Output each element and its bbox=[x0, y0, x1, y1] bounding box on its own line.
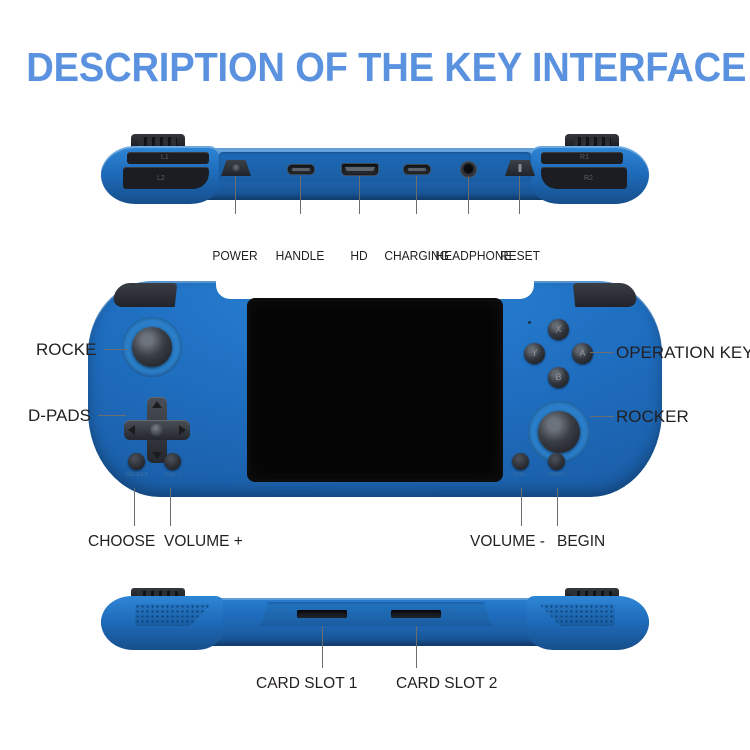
callout-reset-key-line1: RESET bbox=[493, 249, 547, 264]
page-title: DESCRIPTION OF THE KEY INTERFACE bbox=[26, 44, 724, 91]
trigger-l1-label: L1 bbox=[161, 154, 169, 161]
callout-card-slot-1: CARD SLOT 1 bbox=[256, 675, 357, 693]
leader-reset-key bbox=[519, 176, 520, 214]
callout-volume-down: VOLUME - bbox=[470, 533, 545, 551]
volume-down-button[interactable] bbox=[512, 453, 529, 470]
trigger-r1-label: R1 bbox=[580, 154, 589, 161]
usb-c-port-icon-handle[interactable] bbox=[287, 164, 315, 175]
leader-d-pads bbox=[98, 415, 126, 416]
hdmi-port-icon[interactable] bbox=[341, 163, 379, 176]
left-shoulder-front bbox=[113, 283, 178, 307]
volume-down-button-label: VOL - bbox=[504, 472, 538, 478]
front-view: SELECT VOL + X Y A B VOL - START bbox=[88, 281, 662, 497]
leader-power-key bbox=[235, 176, 236, 214]
card-slot-1-cap: TF1 bbox=[276, 610, 287, 616]
leader-card-slot-2 bbox=[416, 626, 417, 668]
start-button-label: START bbox=[540, 472, 574, 478]
leader-hd-port bbox=[359, 176, 360, 214]
volume-up-button-label: VOL + bbox=[156, 472, 190, 478]
callout-power-key-line1: POWER bbox=[206, 249, 264, 264]
callout-handle-interface-line1: HANDLE bbox=[263, 249, 338, 264]
callout-rocker-right: ROCKER bbox=[616, 407, 689, 427]
trigger-l2-label: L2 bbox=[157, 175, 165, 182]
d-pad-hub bbox=[151, 424, 164, 437]
action-button-y[interactable]: Y bbox=[524, 343, 545, 364]
bottom-edge-view: TF1 TF2 bbox=[101, 588, 649, 652]
card-slot-1[interactable] bbox=[297, 610, 347, 618]
leader-volume-up bbox=[170, 488, 171, 526]
action-button-b[interactable]: B bbox=[548, 367, 569, 388]
product-diagram: DESCRIPTION OF THE KEY INTERFACE L1 L2 R… bbox=[0, 0, 750, 750]
right-stick-cap bbox=[538, 411, 580, 453]
leader-charging-port bbox=[416, 176, 417, 214]
left-stick-cap bbox=[132, 327, 172, 367]
callout-d-pads: D-PADS bbox=[28, 406, 91, 426]
card-slot-2[interactable] bbox=[391, 610, 441, 618]
d-pad-left-icon[interactable] bbox=[128, 425, 135, 435]
leader-headphone-jack bbox=[468, 176, 469, 214]
indicator-led bbox=[528, 321, 531, 324]
callout-operation-keys: OPERATION KEYS bbox=[616, 343, 750, 363]
display-screen bbox=[250, 301, 500, 479]
select-button-label: SELECT bbox=[120, 472, 154, 478]
action-button-x[interactable]: X bbox=[548, 319, 569, 340]
card-slot-2-cap: TF2 bbox=[446, 610, 457, 616]
callout-choose: CHOOSE bbox=[88, 533, 155, 551]
leader-choose bbox=[134, 488, 135, 526]
d-pad-right-icon[interactable] bbox=[179, 425, 186, 435]
volume-up-button[interactable] bbox=[164, 453, 181, 470]
leader-volume-down bbox=[521, 488, 522, 526]
leader-rocker-right bbox=[590, 416, 614, 417]
top-edge-view: L1 L2 R1 R2 bbox=[101, 134, 649, 206]
leader-begin bbox=[557, 488, 558, 526]
trigger-l2[interactable] bbox=[123, 167, 209, 189]
power-key-dot bbox=[232, 164, 240, 172]
trigger-r2-label: R2 bbox=[584, 175, 593, 182]
d-pad-down-icon[interactable] bbox=[152, 452, 162, 459]
leader-rocker-left bbox=[104, 349, 128, 350]
usb-c-port-icon-charging[interactable] bbox=[403, 164, 431, 175]
start-button[interactable] bbox=[548, 453, 565, 470]
reset-key-pinhole bbox=[519, 164, 522, 172]
right-shoulder-front bbox=[573, 283, 638, 307]
callout-begin: BEGIN bbox=[557, 533, 605, 551]
callout-card-slot-2: CARD SLOT 2 bbox=[396, 675, 497, 693]
action-button-a[interactable]: A bbox=[572, 343, 593, 364]
select-button[interactable] bbox=[128, 453, 145, 470]
left-analog-stick[interactable] bbox=[122, 317, 182, 377]
leader-operation-keys bbox=[590, 352, 614, 353]
callout-volume-up: VOLUME + bbox=[164, 533, 243, 551]
leader-handle-interface bbox=[300, 176, 301, 214]
callout-rocker-left: ROCKE bbox=[36, 340, 96, 360]
callout-hd-port-line1: HD bbox=[333, 249, 385, 264]
leader-card-slot-1 bbox=[322, 626, 323, 668]
d-pad-up-icon[interactable] bbox=[152, 401, 162, 408]
